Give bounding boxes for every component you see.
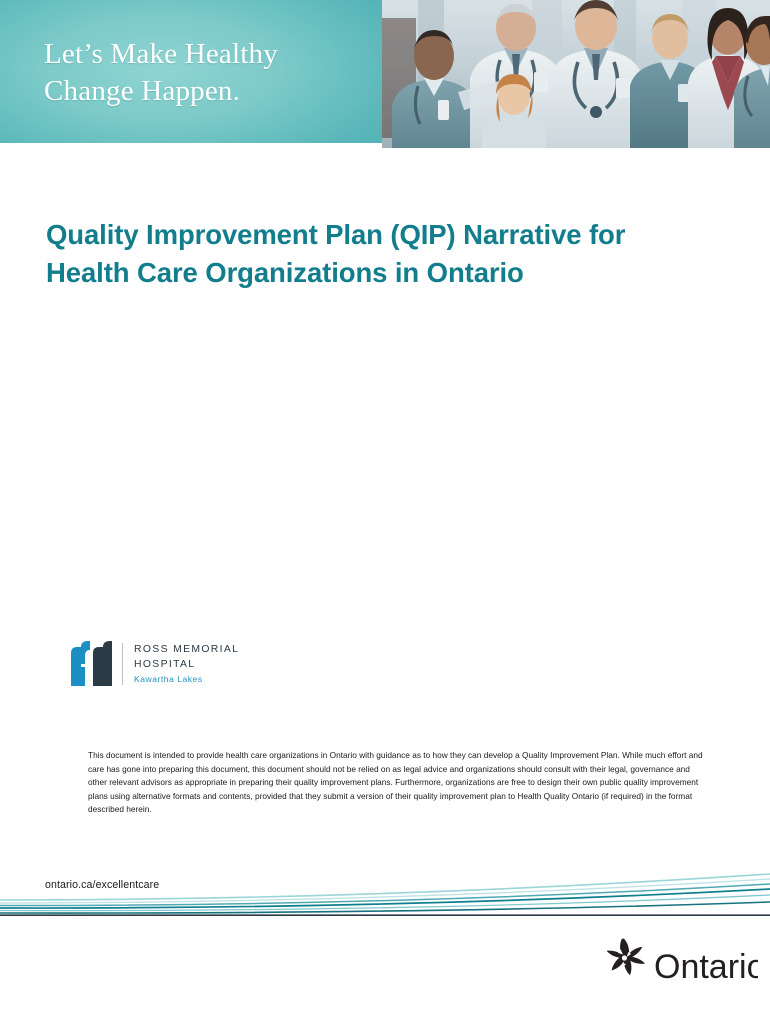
organization-tagline: Kawartha Lakes [134,674,239,684]
tagline-line-2: Change Happen. [44,75,240,107]
ontario-logo-svg: Ontario [600,936,758,994]
organization-name-line-1: ROSS MEMORIAL [134,642,239,657]
page-title-line-1: Quality Improvement Plan (QIP) Narrative… [46,219,625,250]
page-title: Quality Improvement Plan (QIP) Narrative… [46,216,706,292]
swoosh-lines-icon [0,860,770,916]
disclaimer-text: This document is intended to provide hea… [88,749,706,816]
ontario-wordmark: Ontario [654,948,758,986]
page-title-line-2: Health Care Organizations in Ontario [46,254,706,292]
organization-name-block: ROSS MEMORIAL HOSPITAL Kawartha Lakes [134,641,239,684]
ross-memorial-hospital-mark-icon [69,641,113,687]
header-teal-panel: Let’s Make Healthy Change Happen. [0,0,382,143]
logo-divider [122,643,123,685]
header-tagline: Let’s Make Healthy Change Happen. [44,36,374,109]
tagline-line-1: Let’s Make Healthy [44,38,278,70]
footer-swoosh-decoration [0,860,770,916]
trillium-icon [607,938,646,975]
header-photo [382,0,770,148]
organization-logo: ROSS MEMORIAL HOSPITAL Kawartha Lakes [69,641,239,687]
organization-name-line-2: HOSPITAL [134,657,239,672]
header-banner: Let’s Make Healthy Change Happen. [0,0,770,148]
health-care-team-photo [382,0,770,148]
ontario-government-logo: Ontario [600,936,758,994]
